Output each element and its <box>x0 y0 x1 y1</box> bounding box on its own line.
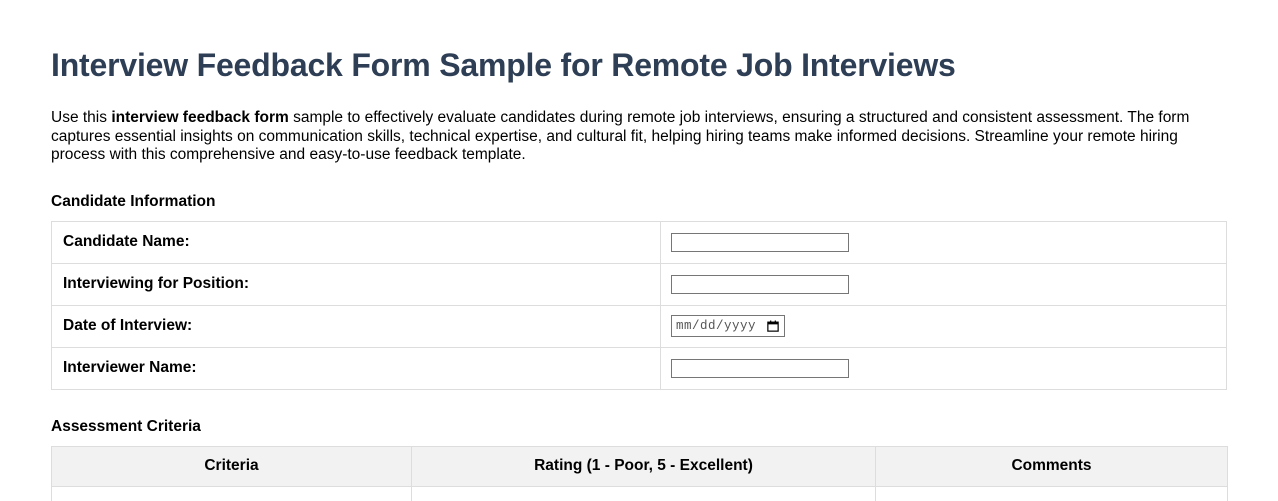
table-row: Interviewer Name: <box>52 347 1227 389</box>
position-input[interactable] <box>671 275 849 294</box>
intro-bold-phrase: interview feedback form <box>111 109 288 126</box>
candidate-name-input[interactable] <box>671 233 849 252</box>
date-of-interview-cell: mm/dd/yyyy <box>661 305 1227 347</box>
assessment-criteria-heading: Assessment Criteria <box>51 390 1227 446</box>
candidate-information-table: Candidate Name: Interviewing for Positio… <box>51 221 1227 390</box>
column-header-criteria: Criteria <box>52 446 412 486</box>
table-row: Interviewing for Position: <box>52 263 1227 305</box>
rating-cell <box>412 486 876 501</box>
table-row <box>52 486 1228 501</box>
interviewer-name-input[interactable] <box>671 359 849 378</box>
document-page: Interview Feedback Form Sample for Remot… <box>0 0 1278 501</box>
table-header-row: Criteria Rating (1 - Poor, 5 - Excellent… <box>52 446 1228 486</box>
position-cell <box>661 263 1227 305</box>
table-row: Candidate Name: <box>52 221 1227 263</box>
interviewer-name-label: Interviewer Name: <box>52 347 661 389</box>
column-header-comments: Comments <box>876 446 1228 486</box>
comments-cell <box>876 486 1228 501</box>
assessment-criteria-table: Criteria Rating (1 - Poor, 5 - Excellent… <box>51 446 1228 501</box>
interviewer-name-cell <box>661 347 1227 389</box>
date-of-interview-input[interactable]: mm/dd/yyyy <box>671 315 785 337</box>
date-of-interview-label: Date of Interview: <box>52 305 661 347</box>
candidate-name-label: Candidate Name: <box>52 221 661 263</box>
page-title: Interview Feedback Form Sample for Remot… <box>51 0 1227 84</box>
calendar-icon[interactable] <box>767 320 779 332</box>
date-placeholder-text: mm/dd/yyyy <box>676 319 763 333</box>
candidate-information-heading: Candidate Information <box>51 165 1227 221</box>
candidate-name-cell <box>661 221 1227 263</box>
position-label: Interviewing for Position: <box>52 263 661 305</box>
table-row: Date of Interview: mm/dd/yyyy <box>52 305 1227 347</box>
intro-paragraph: Use this interview feedback form sample … <box>51 84 1227 165</box>
column-header-rating: Rating (1 - Poor, 5 - Excellent) <box>412 446 876 486</box>
criteria-cell <box>52 486 412 501</box>
intro-text-part1: Use this <box>51 109 111 126</box>
